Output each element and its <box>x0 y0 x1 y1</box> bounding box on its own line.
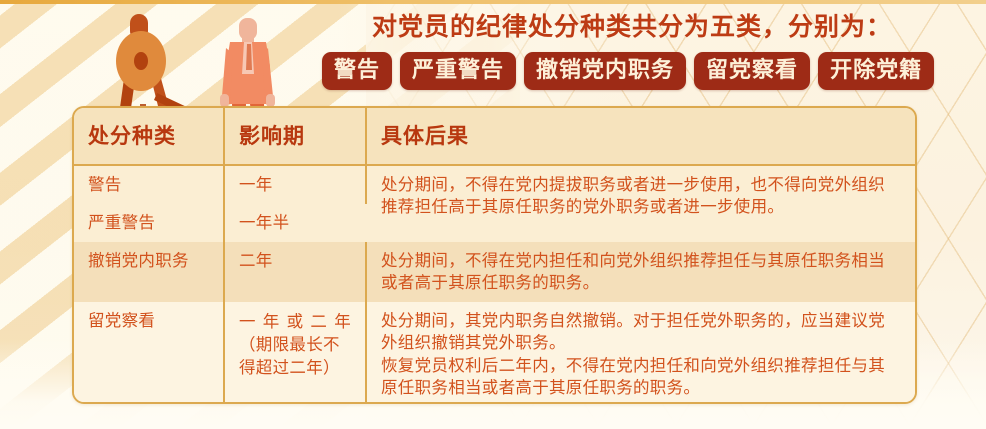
period-line-2: （期限最长不 <box>239 333 351 356</box>
column-header-consequence: 具体后果 <box>366 108 915 165</box>
table-header: 处分种类 影响期 具体后果 <box>74 108 915 165</box>
badge-warning[interactable]: 警告 <box>322 52 392 90</box>
consequence-paragraph-1: 处分期间，其党内职务自然撤销。对于担任党外职务的，应当建议党外组织撤销其党外职务… <box>381 310 901 354</box>
badge-remove-post[interactable]: 撤销党内职务 <box>524 52 686 90</box>
table-row: 留党察看 一年或二年 （期限最长不 得超过二年） 处分期间，其党内职务自然撤销。… <box>74 302 915 404</box>
cell-period-remove-post: 二年 <box>224 242 366 302</box>
discipline-table: 处分种类 影响期 具体后果 警告 一年 处分期间，不得在党内提拔职务或者进一步使… <box>74 108 915 404</box>
page-title: 对党员的纪律处分种类共分为五类，分别为： <box>372 11 972 47</box>
cell-kind-probation: 留党察看 <box>74 302 224 404</box>
infographic-poster: 对党员的纪律处分种类共分为五类，分别为： 警告 严重警告 撤销党内职务 留党察看… <box>0 0 986 429</box>
cell-consequence-probation: 处分期间，其党内职务自然撤销。对于担任党外职务的，应当建议党外组织撤销其党外职务… <box>366 302 915 404</box>
cell-kind-serious-warning: 严重警告 <box>74 204 224 242</box>
table-header-row: 处分种类 影响期 具体后果 <box>74 108 915 165</box>
column-header-kind: 处分种类 <box>74 108 224 165</box>
badge-expulsion[interactable]: 开除党籍 <box>818 52 934 90</box>
period-line-3: 得超过二年） <box>239 356 351 379</box>
period-line-1: 一年或二年 <box>239 310 351 333</box>
consequence-paragraph-2: 恢复党员权利后二年内，不得在党内担任和向党外组织推荐担任与其原任职务相当或者高于… <box>381 355 901 399</box>
cell-period-serious-warning: 一年半 <box>224 204 366 242</box>
table-body: 警告 一年 处分期间，不得在党内提拔职务或者进一步使用，也不得向党外组织推荐担任… <box>74 165 915 404</box>
discipline-type-badge-row: 警告 严重警告 撤销党内职务 留党察看 开除党籍 <box>322 52 934 90</box>
badge-probation[interactable]: 留党察看 <box>694 52 810 90</box>
cell-kind-warning: 警告 <box>74 165 224 204</box>
badge-serious-warning[interactable]: 严重警告 <box>400 52 516 90</box>
cell-period-warning: 一年 <box>224 165 366 204</box>
cell-consequence-warning: 处分期间，不得在党内提拔职务或者进一步使用，也不得向党外组织推荐担任高于其原任职… <box>366 165 915 242</box>
table-row: 撤销党内职务 二年 处分期间，不得在党内担任和向党外组织推荐担任与其原任职务相当… <box>74 242 915 302</box>
cell-kind-remove-post: 撤销党内职务 <box>74 242 224 302</box>
cell-consequence-remove-post: 处分期间，不得在党内担任和向党外组织推荐担任与其原任职务相当或者高于其原任职务的… <box>366 242 915 302</box>
column-header-period: 影响期 <box>224 108 366 165</box>
discipline-table-container: 处分种类 影响期 具体后果 警告 一年 处分期间，不得在党内提拔职务或者进一步使… <box>72 106 917 404</box>
table-row: 警告 一年 处分期间，不得在党内提拔职务或者进一步使用，也不得向党外组织推荐担任… <box>74 165 915 204</box>
cell-period-probation: 一年或二年 （期限最长不 得超过二年） <box>224 302 366 404</box>
